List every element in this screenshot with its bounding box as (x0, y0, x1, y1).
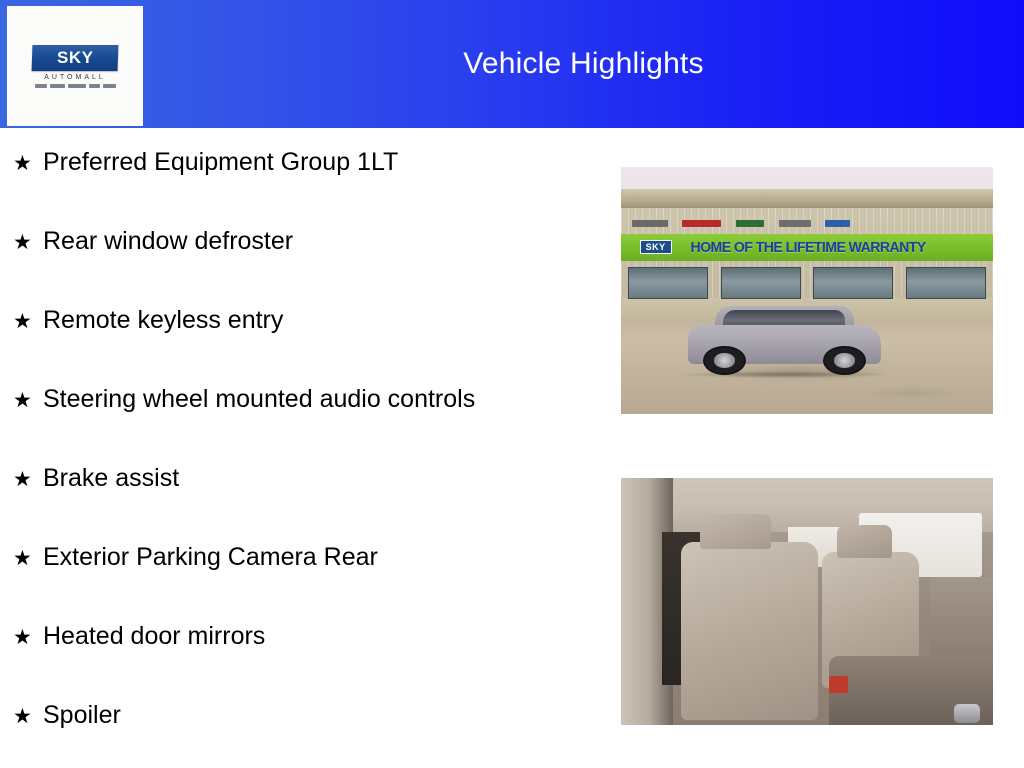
window-pane (813, 267, 893, 299)
brand-mark-5-icon (103, 84, 116, 88)
star-bullet-icon: ★ (13, 232, 43, 253)
star-bullet-icon: ★ (13, 390, 43, 411)
sky-sign-icon (825, 220, 850, 227)
star-bullet-icon: ★ (13, 311, 43, 332)
list-item: ★ Steering wheel mounted audio controls (0, 387, 610, 466)
brand-mark-2-icon (50, 84, 65, 88)
suv-vehicle (688, 303, 881, 377)
vehicle-features-list: ★ Preferred Equipment Group 1LT ★ Rear w… (0, 128, 610, 768)
ram-sign-icon (779, 220, 811, 227)
list-item-label: Steering wheel mounted audio controls (43, 387, 475, 412)
star-bullet-icon: ★ (13, 469, 43, 490)
warranty-banner: SKY HOME OF THE LIFETIME WARRANTY (621, 234, 993, 261)
sky-logo-text: SKY (57, 48, 93, 68)
center-console (829, 656, 993, 725)
star-bullet-icon: ★ (13, 548, 43, 569)
banner-warranty-text: HOME OF THE LIFETIME WARRANTY (690, 239, 925, 256)
window-pane (628, 267, 708, 299)
vehicle-highlights-slide: SKY AUTOMALL Vehicle Highlights ★ Prefer… (0, 0, 1024, 768)
door-panel (930, 577, 993, 661)
page-title: Vehicle Highlights (143, 0, 1024, 128)
window-pane (721, 267, 801, 299)
brand-mark-4-icon (89, 84, 100, 88)
brand-mark-1-icon (35, 84, 47, 88)
star-bullet-icon: ★ (13, 153, 43, 174)
dodge-sign-icon (682, 220, 721, 227)
dealer-logo: SKY AUTOMALL (7, 6, 143, 126)
brand-mark-3-icon (68, 84, 86, 88)
building-windows (628, 267, 985, 299)
list-item-label: Remote keyless entry (43, 308, 283, 333)
automall-tagline: AUTOMALL (44, 74, 106, 81)
star-bullet-icon: ★ (13, 627, 43, 648)
list-item: ★ Brake assist (0, 466, 610, 545)
list-item: ★ Heated door mirrors (0, 624, 610, 703)
list-item-label: Rear window defroster (43, 229, 293, 254)
slide-header: SKY AUTOMALL Vehicle Highlights (0, 0, 1024, 128)
dealer-logo-inner: SKY AUTOMALL (25, 45, 125, 88)
banner-sky-badge: SKY (640, 240, 672, 254)
front-headrest (700, 514, 772, 550)
sky-logo-banner: SKY (32, 45, 119, 71)
chrysler-sign-icon (632, 220, 668, 227)
exterior-vehicle-photo: SKY HOME OF THE LIFETIME WARRANTY (621, 167, 993, 414)
list-item-label: Exterior Parking Camera Rear (43, 545, 378, 570)
rear-headrest (837, 525, 891, 558)
list-item-label: Brake assist (43, 466, 179, 491)
star-bullet-icon: ★ (13, 706, 43, 727)
oem-brand-strip-icon (27, 84, 123, 88)
list-item: ★ Remote keyless entry (0, 308, 610, 387)
jeep-sign-icon (736, 220, 765, 227)
list-item: ★ Preferred Equipment Group 1LT (0, 150, 610, 229)
interior-vehicle-photo (621, 478, 993, 725)
list-item: ★ Spoiler (0, 703, 610, 768)
list-item-label: Heated door mirrors (43, 624, 265, 649)
front-seat (681, 542, 819, 720)
dealership-brand-signs-icon (625, 216, 990, 231)
building-roof (621, 189, 993, 209)
list-item-label: Spoiler (43, 703, 121, 728)
list-item: ★ Exterior Parking Camera Rear (0, 545, 610, 624)
window-pane (906, 267, 986, 299)
gear-shifter (954, 704, 980, 723)
seatbelt-buckle (829, 676, 848, 693)
list-item: ★ Rear window defroster (0, 229, 610, 308)
list-item-label: Preferred Equipment Group 1LT (43, 150, 398, 175)
